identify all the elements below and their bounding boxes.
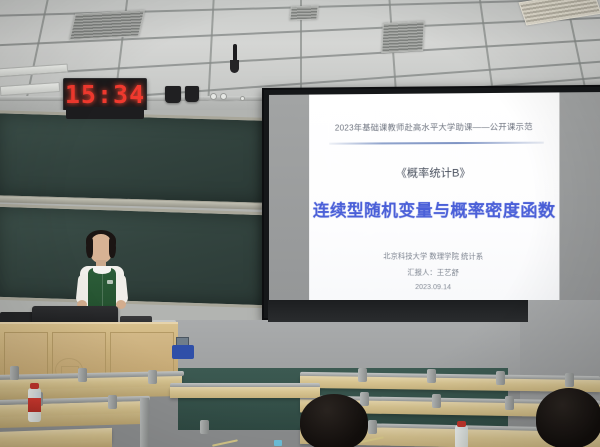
desk-rail-post [10, 366, 19, 380]
slide-header-text: 2023年基础课教师赴高水平大学助课——公开课示范 [309, 121, 559, 134]
water-bottle-cap [30, 383, 39, 389]
projector-mount [66, 107, 144, 119]
desk-leg [140, 398, 149, 447]
recording-device [172, 345, 194, 359]
wall-socket-icon [220, 93, 227, 100]
desk-small-object [274, 440, 282, 446]
ceiling-air-vent [381, 21, 425, 53]
slide-date: 2023.09.14 [309, 283, 559, 292]
desk-rail-post [368, 420, 377, 434]
slide-affiliation: 北京科技大学 数理学院 统计系 [309, 251, 559, 262]
water-bottle-cap [457, 421, 466, 427]
letterbox-left [269, 95, 309, 313]
slide-presenter-name: 汇报人：王艺舒 [309, 267, 559, 278]
microphone-capsule-icon [230, 60, 239, 73]
slide-course-name: 《概率统计B》 [309, 164, 559, 181]
desk-rail-post [148, 370, 157, 384]
ceiling-air-vent [69, 10, 145, 40]
wall-socket-icon [210, 93, 217, 100]
ceiling-speaker-icon [165, 86, 181, 103]
slide-divider-rule [329, 142, 544, 145]
water-bottle [455, 425, 468, 447]
ceiling-air-vent [289, 5, 318, 20]
water-bottle-label [28, 398, 41, 412]
slide-main-title: 连续型随机变量与概率密度函数 [309, 197, 559, 222]
presenter-hair-side [109, 238, 116, 258]
ceiling-light-strip [0, 63, 68, 77]
presenter-hair-side [86, 238, 93, 258]
wall-socket-icon [240, 96, 245, 101]
desk-rail-post [360, 392, 369, 406]
desk-rail-post [496, 371, 505, 385]
ceiling-speaker-icon [185, 86, 199, 102]
presentation-slide: 2023年基础课教师赴高水平大学助课——公开课示范 《概率统计B》 连续型随机变… [309, 92, 559, 314]
student-head [300, 394, 368, 447]
letterbox-right [559, 92, 600, 315]
presenter-vest-logo [107, 280, 113, 284]
desk-rail-post [432, 394, 441, 408]
desk-rail-post [108, 395, 117, 409]
ceiling-light-strip [0, 82, 60, 96]
desk-rail-post [78, 368, 87, 382]
desk-rail-post [505, 396, 514, 410]
ceiling-air-vent [519, 0, 600, 25]
projection-screen-surface: 2023年基础课教师赴高水平大学助课——公开课示范 《概率统计B》 连续型随机变… [269, 92, 600, 315]
desk-rail-post [200, 420, 209, 434]
desk-rail-post [427, 369, 436, 383]
screen-lower-shadow [268, 300, 528, 322]
presenter-vest-opening [102, 272, 103, 310]
pen [212, 439, 238, 446]
presenter-collar [93, 266, 111, 274]
chalkboard-upper [0, 110, 266, 206]
lecture-hall-photo: 15:34 2023年基础课教师赴高水平大学助课——公开课示范 《概率统计B》 [0, 0, 600, 447]
student-head [536, 388, 600, 447]
desk-row [170, 387, 320, 398]
projection-screen: 2023年基础课教师赴高水平大学助课——公开课示范 《概率统计B》 连续型随机变… [262, 85, 600, 323]
desk-rail-post [565, 373, 574, 387]
desk-rail-post [358, 368, 367, 382]
clock-time-display: 15:34 [65, 82, 145, 107]
